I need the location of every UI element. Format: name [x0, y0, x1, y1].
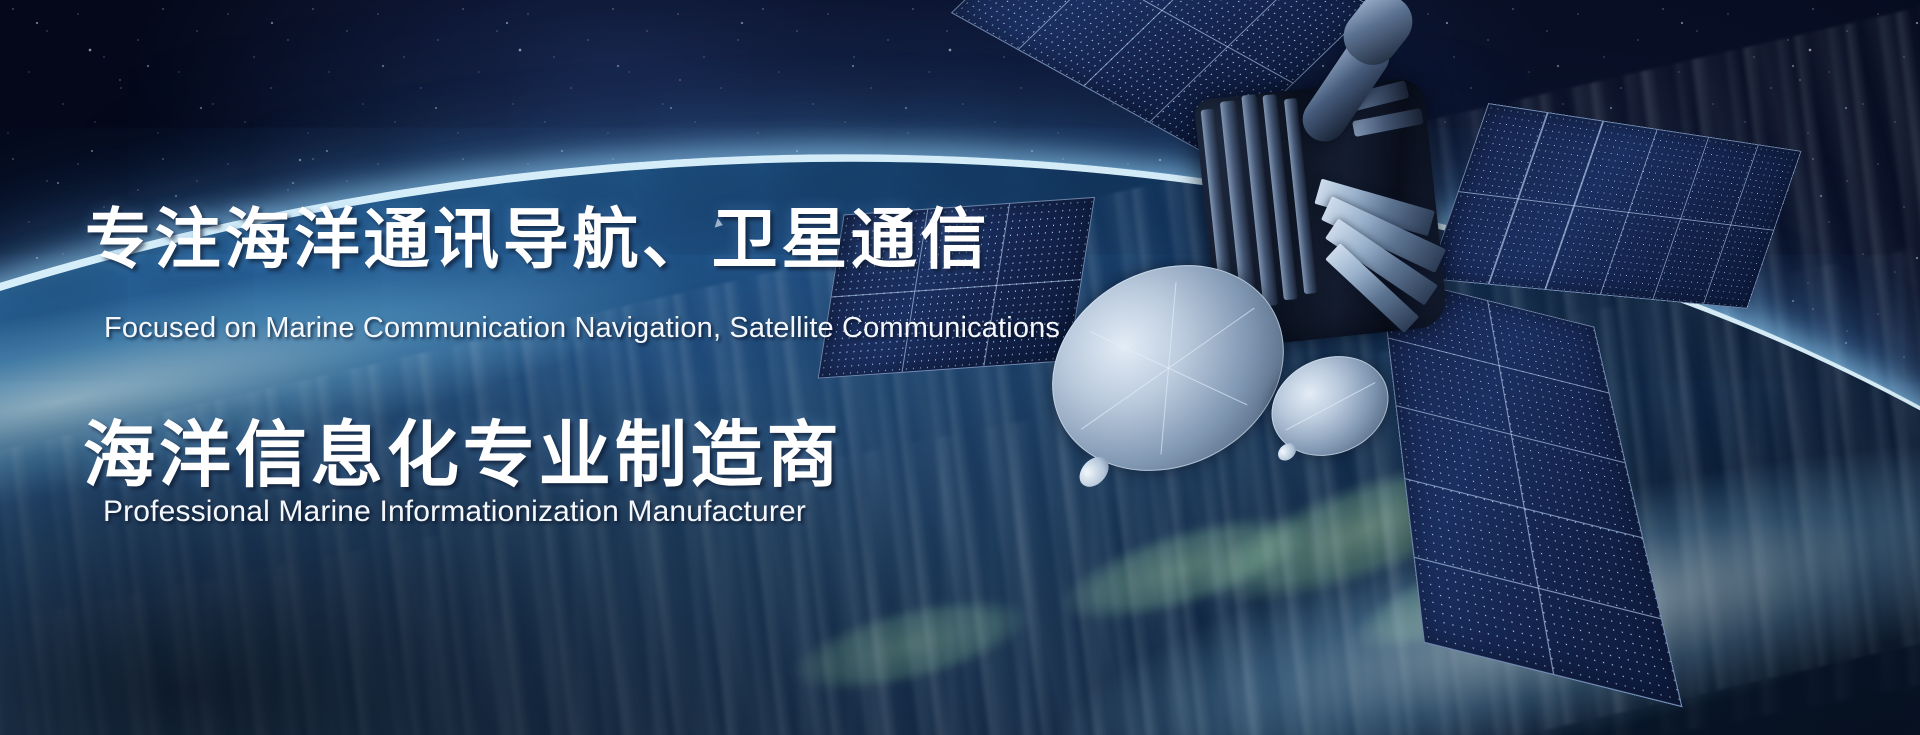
subtitle-primary-en: Focused on Marine Communication Navigati… [104, 312, 1060, 345]
headline-primary-cn: 专注海洋通讯导航、卫星通信 [85, 186, 990, 282]
subtitle-secondary-en: Professional Marine Informationization M… [103, 495, 806, 529]
headline-secondary-cn: 海洋信息化专业制造商 [83, 396, 843, 501]
solar-panel-lower-right [1380, 273, 1683, 707]
hero-banner: 专注海洋通讯导航、卫星通信 Focused on Marine Communic… [0, 0, 1920, 735]
satellite-graphic [1140, 0, 1920, 580]
solar-panel-upper-right [1428, 103, 1802, 309]
